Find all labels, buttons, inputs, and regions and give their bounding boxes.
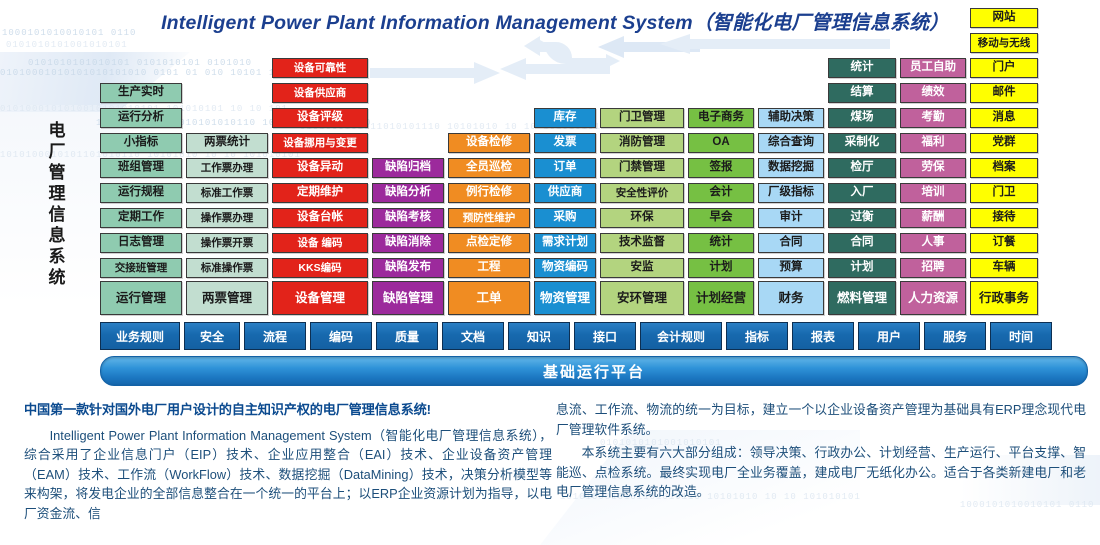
vertical-system-label: 电厂管理信息系统 (42, 120, 72, 288)
module-cell-plan-4[interactable]: 早会 (688, 208, 754, 228)
module-cell-equipment-7[interactable]: 设备 编码 (272, 233, 368, 253)
vertical-label-char: 息 (42, 225, 72, 246)
module-cell-material-6[interactable]: 物资编码 (534, 258, 596, 278)
module-cell-ticket-2[interactable]: 标准工作票 (186, 183, 268, 203)
page-title: Intelligent Power Plant Information Mana… (150, 6, 960, 35)
module-cell-hr-8[interactable]: 招聘 (900, 258, 966, 278)
footer-paragraph-1: Intelligent Power Plant Information Mana… (24, 426, 552, 524)
module-group-hr[interactable]: 人力资源 (900, 281, 966, 315)
module-cell-safety-5[interactable]: 技术监督 (600, 233, 684, 253)
module-cell-safety-2[interactable]: 门禁管理 (600, 158, 684, 178)
module-cell-hr-4[interactable]: 劳保 (900, 158, 966, 178)
module-cell-plan-2[interactable]: 签报 (688, 158, 754, 178)
module-cell-ticket-3[interactable]: 操作票办理 (186, 208, 268, 228)
platform-service-0[interactable]: 业务规则 (100, 322, 180, 350)
poster-root: 1000101010010101 0110 010101010100101010… (0, 0, 1100, 545)
module-cell-admin-8[interactable]: 接待 (970, 208, 1038, 228)
module-cell-fuel-3[interactable]: 采制化 (828, 133, 896, 153)
platform-service-13[interactable]: 时间 (990, 322, 1052, 350)
platform-service-3[interactable]: 编码 (310, 322, 372, 350)
module-group-operation[interactable]: 运行管理 (100, 281, 182, 315)
module-cell-operation-7[interactable]: 交接班管理 (100, 258, 182, 278)
platform-service-1[interactable]: 安全 (184, 322, 240, 350)
vertical-label-char: 管 (42, 162, 72, 183)
module-group-fuel[interactable]: 燃料管理 (828, 281, 896, 315)
platform-service-11[interactable]: 用户 (858, 322, 920, 350)
vertical-label-char: 厂 (42, 141, 72, 162)
module-cell-equipment-3[interactable]: 设备挪用与变更 (272, 133, 368, 153)
module-cell-ticket-4[interactable]: 操作票开票 (186, 233, 268, 253)
module-group-admin[interactable]: 行政事务 (970, 281, 1038, 315)
module-cell-hr-0[interactable]: 员工自助 (900, 58, 966, 78)
module-cell-hr-6[interactable]: 薪酬 (900, 208, 966, 228)
module-cell-hr-1[interactable]: 绩效 (900, 83, 966, 103)
module-cell-admin-2[interactable]: 门户 (970, 58, 1038, 78)
platform-service-2[interactable]: 流程 (244, 322, 306, 350)
vertical-label-char: 系 (42, 246, 72, 267)
module-cell-fuel-1[interactable]: 结算 (828, 83, 896, 103)
module-cell-admin-4[interactable]: 消息 (970, 108, 1038, 128)
module-cell-finance-4[interactable]: 审计 (758, 208, 824, 228)
module-cell-operation-1[interactable]: 运行分析 (100, 108, 182, 128)
module-cell-finance-3[interactable]: 厂级指标 (758, 183, 824, 203)
module-cell-finance-6[interactable]: 预算 (758, 258, 824, 278)
module-cell-admin-6[interactable]: 档案 (970, 158, 1038, 178)
module-cell-equipment-6[interactable]: 设备台帐 (272, 208, 368, 228)
module-cell-operation-0[interactable]: 生产实时 (100, 83, 182, 103)
module-cell-safety-6[interactable]: 安监 (600, 258, 684, 278)
module-group-ticket[interactable]: 两票管理 (186, 281, 268, 315)
module-cell-material-1[interactable]: 发票 (534, 133, 596, 153)
module-cell-admin-7[interactable]: 门卫 (970, 183, 1038, 203)
background-binary-text: 0101010101010101 0101010101 0101010 (28, 58, 252, 68)
module-cell-material-0[interactable]: 库存 (534, 108, 596, 128)
module-cell-defect-1[interactable]: 缺陷分析 (372, 183, 444, 203)
module-cell-finance-2[interactable]: 数据挖掘 (758, 158, 824, 178)
module-cell-ticket-0[interactable]: 两票统计 (186, 133, 268, 153)
module-cell-safety-0[interactable]: 门卫管理 (600, 108, 684, 128)
module-cell-material-3[interactable]: 供应商 (534, 183, 596, 203)
background-binary-text: 0101010101001010101 (6, 40, 128, 50)
module-cell-hr-3[interactable]: 福利 (900, 133, 966, 153)
module-cell-admin-9[interactable]: 订餐 (970, 233, 1038, 253)
platform-service-4[interactable]: 质量 (376, 322, 438, 350)
module-cell-plan-0[interactable]: 电子商务 (688, 108, 754, 128)
module-cell-admin-10[interactable]: 车辆 (970, 258, 1038, 278)
vertical-label-char: 信 (42, 204, 72, 225)
module-cell-ticket-1[interactable]: 工作票办理 (186, 158, 268, 178)
module-cell-operation-3[interactable]: 班组管理 (100, 158, 182, 178)
module-cell-workorder-4[interactable]: 点检定修 (448, 233, 530, 253)
module-cell-operation-2[interactable]: 小指标 (100, 133, 182, 153)
module-cell-fuel-7[interactable]: 合同 (828, 233, 896, 253)
module-cell-admin-5[interactable]: 党群 (970, 133, 1038, 153)
module-cell-hr-5[interactable]: 培训 (900, 183, 966, 203)
module-cell-fuel-6[interactable]: 过衡 (828, 208, 896, 228)
module-cell-defect-2[interactable]: 缺陷考核 (372, 208, 444, 228)
module-group-material[interactable]: 物资管理 (534, 281, 596, 315)
module-group-finance[interactable]: 财务 (758, 281, 824, 315)
vertical-label-char: 电 (42, 120, 72, 141)
module-cell-material-5[interactable]: 需求计划 (534, 233, 596, 253)
module-cell-material-2[interactable]: 订单 (534, 158, 596, 178)
platform-service-12[interactable]: 服务 (924, 322, 986, 350)
module-cell-operation-6[interactable]: 日志管理 (100, 233, 182, 253)
module-cell-safety-4[interactable]: 环保 (600, 208, 684, 228)
module-cell-finance-0[interactable]: 辅助决策 (758, 108, 824, 128)
module-cell-defect-3[interactable]: 缺陷消除 (372, 233, 444, 253)
module-cell-equipment-1[interactable]: 设备供应商 (272, 83, 368, 103)
module-cell-hr-7[interactable]: 人事 (900, 233, 966, 253)
module-cell-ticket-5[interactable]: 标准操作票 (186, 258, 268, 278)
module-group-workorder[interactable]: 工单 (448, 281, 530, 315)
background-binary-text: 01010001010101010101010 0101 01 010 1010… (0, 68, 301, 78)
platform-service-8[interactable]: 会计规则 (640, 322, 722, 350)
footer-paragraph-2: 息流、工作流、物流的统一为目标，建立一个以企业设备资产管理为基础具有ERP理念现… (556, 400, 1086, 439)
module-group-plan[interactable]: 计划经营 (688, 281, 754, 315)
module-cell-finance-5[interactable]: 合同 (758, 233, 824, 253)
module-cell-admin-0[interactable]: 网站 (970, 8, 1038, 28)
module-cell-workorder-5[interactable]: 工程 (448, 258, 530, 278)
footer-paragraph-3: 本系统主要有六大部分组成：领导决策、行政办公、计划经营、生产运行、平台支撑、智能… (556, 443, 1086, 502)
decorative-arrow-left (370, 62, 500, 84)
module-cell-equipment-0[interactable]: 设备可靠性 (272, 58, 368, 78)
module-cell-equipment-5[interactable]: 定期维护 (272, 183, 368, 203)
module-cell-fuel-5[interactable]: 入厂 (828, 183, 896, 203)
module-group-defect[interactable]: 缺陷管理 (372, 281, 444, 315)
module-cell-finance-1[interactable]: 综合查询 (758, 133, 824, 153)
module-cell-workorder-0[interactable]: 设备检修 (448, 133, 530, 153)
decorative-arrow-top-right (660, 34, 890, 54)
module-cell-defect-4[interactable]: 缺陷发布 (372, 258, 444, 278)
module-cell-admin-3[interactable]: 邮件 (970, 83, 1038, 103)
module-cell-plan-5[interactable]: 统计 (688, 233, 754, 253)
vertical-label-char: 理 (42, 183, 72, 204)
background-binary-text: 1000101010010101 0110 (2, 28, 136, 38)
module-cell-equipment-2[interactable]: 设备评级 (272, 108, 368, 128)
module-cell-plan-1[interactable]: OA (688, 133, 754, 153)
module-cell-operation-5[interactable]: 定期工作 (100, 208, 182, 228)
module-cell-material-4[interactable]: 采购 (534, 208, 596, 228)
platform-service-7[interactable]: 接口 (574, 322, 636, 350)
module-cell-admin-1[interactable]: 移动与无线 (970, 33, 1038, 53)
module-cell-fuel-2[interactable]: 煤场 (828, 108, 896, 128)
module-cell-workorder-1[interactable]: 全员巡检 (448, 158, 530, 178)
platform-service-6[interactable]: 知识 (508, 322, 570, 350)
module-cell-hr-2[interactable]: 考勤 (900, 108, 966, 128)
module-group-equipment[interactable]: 设备管理 (272, 281, 368, 315)
module-cell-fuel-0[interactable]: 统计 (828, 58, 896, 78)
module-cell-safety-1[interactable]: 消防管理 (600, 133, 684, 153)
base-platform-bar[interactable]: 基础运行平台 (100, 356, 1088, 386)
module-cell-equipment-8[interactable]: KKS编码 (272, 258, 368, 278)
module-cell-operation-4[interactable]: 运行规程 (100, 183, 182, 203)
module-cell-plan-6[interactable]: 计划 (688, 258, 754, 278)
footer-right-column: 息流、工作流、物流的统一为目标，建立一个以企业设备资产管理为基础具有ERP理念现… (556, 400, 1086, 506)
platform-service-9[interactable]: 指标 (726, 322, 788, 350)
footer-headline: 中国第一款针对国外电厂用户设计的自主知识产权的电厂管理信息系统! (24, 400, 552, 420)
module-cell-safety-3[interactable]: 安全性评价 (600, 183, 684, 203)
footer-left-column: 中国第一款针对国外电厂用户设计的自主知识产权的电厂管理信息系统! Intelli… (24, 400, 552, 527)
module-cell-defect-0[interactable]: 缺陷归档 (372, 158, 444, 178)
platform-service-10[interactable]: 报表 (792, 322, 854, 350)
module-group-safety[interactable]: 安环管理 (600, 281, 684, 315)
platform-service-5[interactable]: 文档 (442, 322, 504, 350)
module-cell-plan-3[interactable]: 会计 (688, 183, 754, 203)
module-cell-workorder-3[interactable]: 预防性维护 (448, 208, 530, 228)
vertical-label-char: 统 (42, 267, 72, 288)
platform-support-band: 业务规则安全流程编码质量文档知识接口会计规则指标报表用户服务时间 (100, 322, 1052, 350)
module-cell-equipment-4[interactable]: 设备异动 (272, 158, 368, 178)
module-cell-fuel-4[interactable]: 检厅 (828, 158, 896, 178)
module-cell-workorder-2[interactable]: 例行检修 (448, 183, 530, 203)
module-cell-fuel-8[interactable]: 计划 (828, 258, 896, 278)
